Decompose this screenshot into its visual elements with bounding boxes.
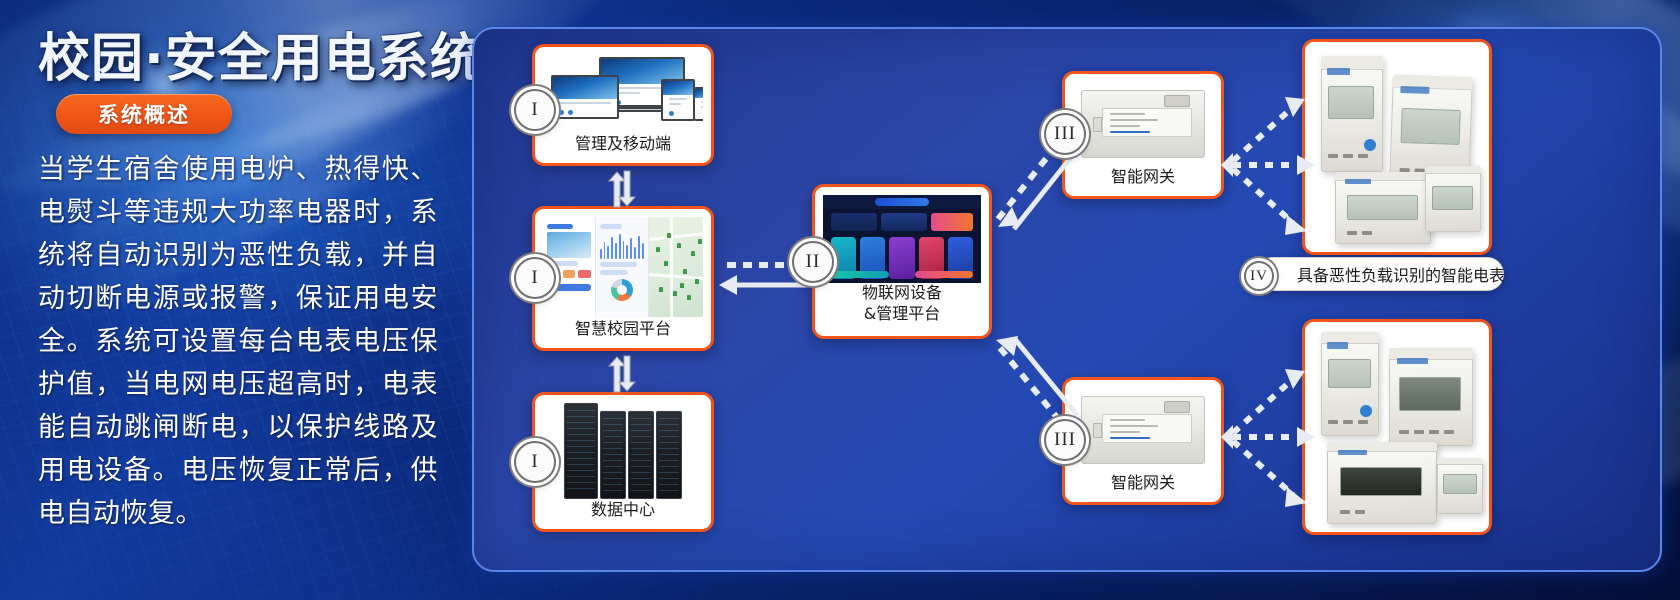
dashboard-icon (543, 217, 703, 317)
node-label: 数据中心 (535, 499, 711, 520)
node-data-center[interactable]: 数据中心 (532, 392, 714, 532)
section-badge: 系统概述 (56, 94, 232, 134)
node-management-mobile[interactable]: 管理及移动端 (532, 44, 714, 166)
node-label: 智慧校园平台 (535, 318, 711, 339)
gateway-icon (1073, 388, 1213, 472)
gateway-icon (1073, 82, 1213, 166)
connector-gateway-bottom-to-meters (1219, 359, 1315, 509)
numeral-badge-iot-platform: II (792, 241, 834, 283)
connector-campus-to-datacenter (607, 356, 641, 392)
devices-icon (543, 55, 703, 133)
meter-group-bottom[interactable] (1302, 319, 1492, 535)
numeral-badge-gateway-top: III (1044, 113, 1086, 155)
section-badge-label: 系统概述 (98, 99, 190, 129)
iot-dashboard-icon (823, 195, 981, 283)
node-smart-campus[interactable]: 智慧校园平台 (532, 206, 714, 351)
node-label: 物联网设备 &管理平台 (815, 282, 989, 324)
numeral-badge-gateway-bottom: III (1044, 419, 1086, 461)
node-iot-platform[interactable]: 物联网设备 &管理平台 (812, 184, 992, 339)
numeral-badge-management-mobile: I (514, 89, 556, 131)
system-description: 当学生宿舍使用电炉、热得快、电熨斗等违规大功率电器时，系统将自动识别为恶性负载，… (38, 148, 438, 535)
numeral-badge-data-center: I (514, 441, 556, 483)
callout-label: 具备恶性负载识别的智能电表 (1257, 262, 1519, 286)
electric-meter-icon (1305, 42, 1489, 252)
connector-gateway-top-to-meters (1219, 87, 1315, 237)
node-label: 智能网关 (1065, 472, 1221, 493)
callout-smart-meter[interactable]: 具备恶性负载识别的智能电表 (1256, 257, 1504, 291)
connector-mgmt-to-campus (607, 171, 641, 207)
server-rack-icon (543, 403, 703, 499)
node-label: 管理及移动端 (535, 133, 711, 154)
numeral-badge-smart-campus: I (514, 257, 556, 299)
numeral-badge-callout: IV (1244, 261, 1274, 291)
intro-column: 校园·安全用电系统 系统概述 当学生宿舍使用电炉、热得快、电熨斗等违规大功率电器… (0, 0, 470, 600)
meter-group-top[interactable] (1302, 39, 1492, 255)
electric-meter-icon (1305, 322, 1489, 532)
diagram-panel: 管理及移动端 I (472, 27, 1662, 572)
node-label-line1: 物联网设备 (815, 282, 989, 303)
page-title: 校园·安全用电系统 (38, 16, 483, 91)
node-label-line2: &管理平台 (815, 303, 989, 324)
